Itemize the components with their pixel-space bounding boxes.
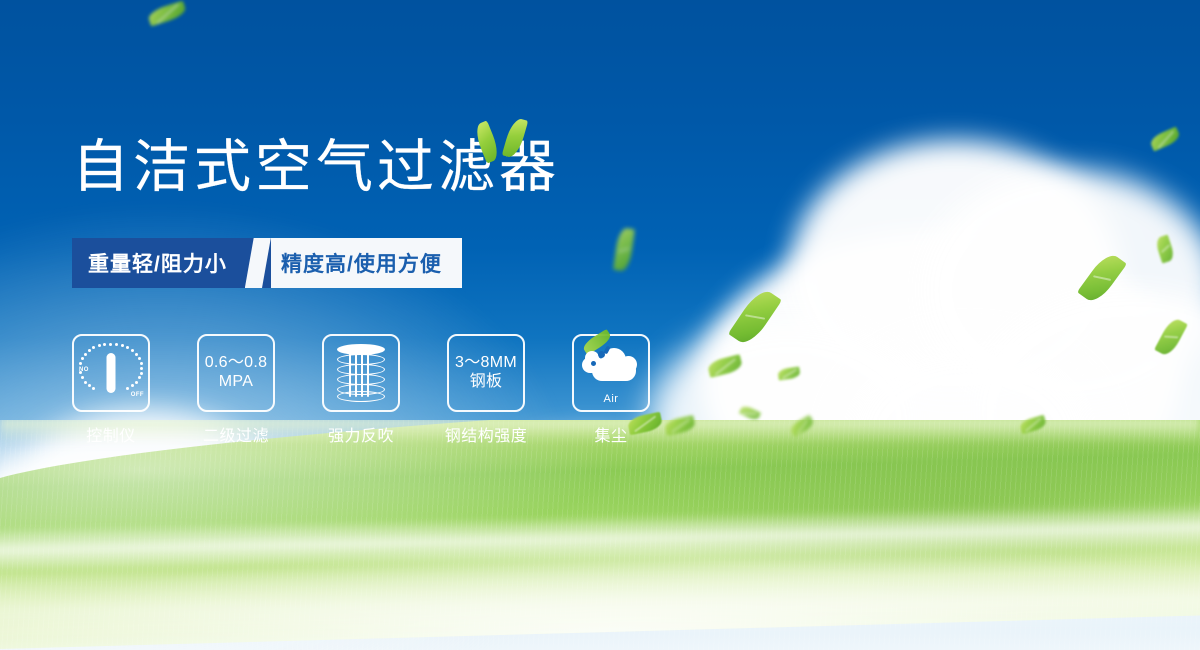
pressure-range: 0.6～0.8 [205, 354, 268, 373]
promo-banner: 自洁式空气过滤器 重量轻/阻力小 精度高/使用方便 [0, 0, 1200, 650]
badge-segment-left: 重量轻/阻力小 [72, 238, 245, 288]
feature-icon-box: 0.6～0.8 MPA [197, 334, 275, 412]
feature-icon-box: 3～8MM 钢板 [447, 334, 525, 412]
badge-segment-right: 精度高/使用方便 [271, 238, 462, 288]
sprout-leaves-icon [475, 112, 537, 170]
feature-label: 二级过滤 [203, 422, 269, 446]
feature-icon-box: Air [572, 334, 650, 412]
filter-discs-icon [333, 344, 389, 402]
gauge-label-off: OFF [131, 392, 144, 398]
feature-item-blowback[interactable]: 强力反吹 [322, 334, 400, 446]
feature-list: NO OFF 控制仪 0.6～0.8 MPA 二级过滤 [72, 334, 650, 446]
feature-label: 集尘 [594, 422, 627, 446]
feature-label: 控制仪 [86, 422, 136, 446]
cloud-air-icon: Air [580, 344, 642, 402]
feature-label: 强力反吹 [328, 422, 394, 446]
subtitle-badge: 重量轻/阻力小 精度高/使用方便 [72, 238, 462, 288]
badge-divider [245, 238, 271, 288]
feature-item-pressure[interactable]: 0.6～0.8 MPA 二级过滤 [197, 334, 275, 446]
feature-icon-box [322, 334, 400, 412]
grass-texture [0, 420, 1200, 650]
feature-label: 钢结构强度 [445, 422, 528, 446]
air-label: Air [580, 393, 642, 405]
feature-icon-box: NO OFF [72, 334, 150, 412]
grass-field [0, 420, 1200, 650]
gauge-icon: NO OFF [80, 342, 142, 404]
gauge-label-no: NO [79, 367, 89, 373]
pressure-unit: MPA [205, 373, 268, 392]
feature-icon-text: 0.6～0.8 MPA [205, 354, 268, 392]
feature-item-controller[interactable]: NO OFF 控制仪 [72, 334, 150, 446]
feature-icon-text: 3～8MM 钢板 [455, 354, 517, 392]
steel-material: 钢板 [455, 373, 517, 392]
steel-thickness: 3～8MM [455, 354, 517, 373]
feature-item-steel[interactable]: 3～8MM 钢板 钢结构强度 [447, 334, 525, 446]
